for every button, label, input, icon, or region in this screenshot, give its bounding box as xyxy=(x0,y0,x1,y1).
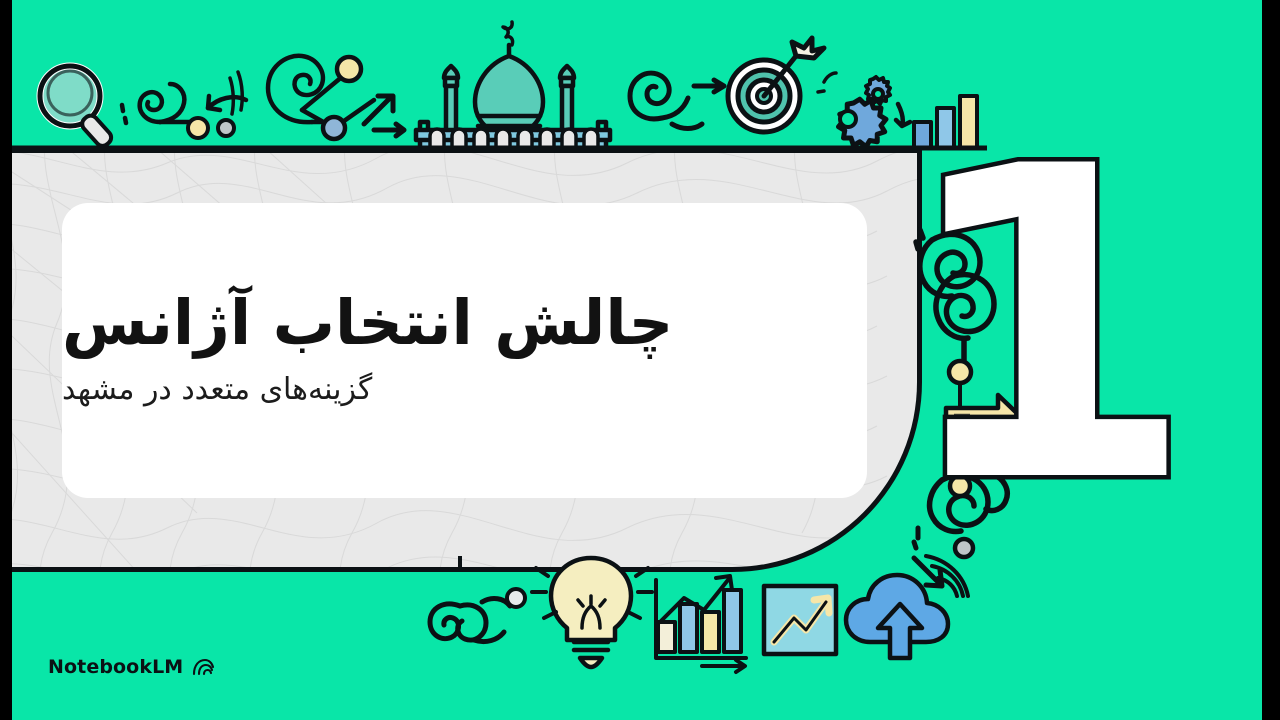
arrow-right-icon xyxy=(694,80,724,92)
title-card: چالش انتخاب آژانس گزینه‌های متعدد در مشه… xyxy=(62,203,867,498)
dot-gray-icon xyxy=(507,589,525,607)
bar-chart-trend-icon xyxy=(656,576,746,672)
slide-number: 1 xyxy=(897,112,1196,542)
mosque-icon xyxy=(416,22,610,150)
magnifier-icon xyxy=(40,66,114,149)
letterbox-right xyxy=(1262,0,1280,720)
spiral-doodle-icon xyxy=(430,599,510,642)
slide-canvas: چالش انتخاب آژانس گزینه‌های متعدد در مشه… xyxy=(12,0,1262,720)
letterbox-left xyxy=(0,0,12,720)
spiral-doodle-icon xyxy=(122,56,334,123)
page-subtitle: گزینه‌های متعدد در مشهد xyxy=(62,369,372,411)
bottom-decoration-band xyxy=(412,556,972,676)
dot-blue-icon xyxy=(323,117,345,139)
slide-stage: چالش انتخاب آژانس گزینه‌های متعدد در مشه… xyxy=(0,0,1280,720)
notebooklm-logo-icon xyxy=(192,657,216,677)
spiral-doodle-icon xyxy=(630,73,702,128)
page-title: چالش انتخاب آژانس xyxy=(62,284,673,362)
brand-name: NotebookLM xyxy=(48,656,183,678)
lightbulb-icon xyxy=(532,558,652,667)
growth-chart-box-icon xyxy=(764,586,836,654)
target-dartboard-icon xyxy=(728,38,824,132)
notebooklm-branding: NotebookLM xyxy=(48,656,216,678)
dot-yellow-icon xyxy=(337,57,361,81)
dot-yellow-icon xyxy=(188,118,208,138)
dot-gray-icon xyxy=(218,120,234,136)
